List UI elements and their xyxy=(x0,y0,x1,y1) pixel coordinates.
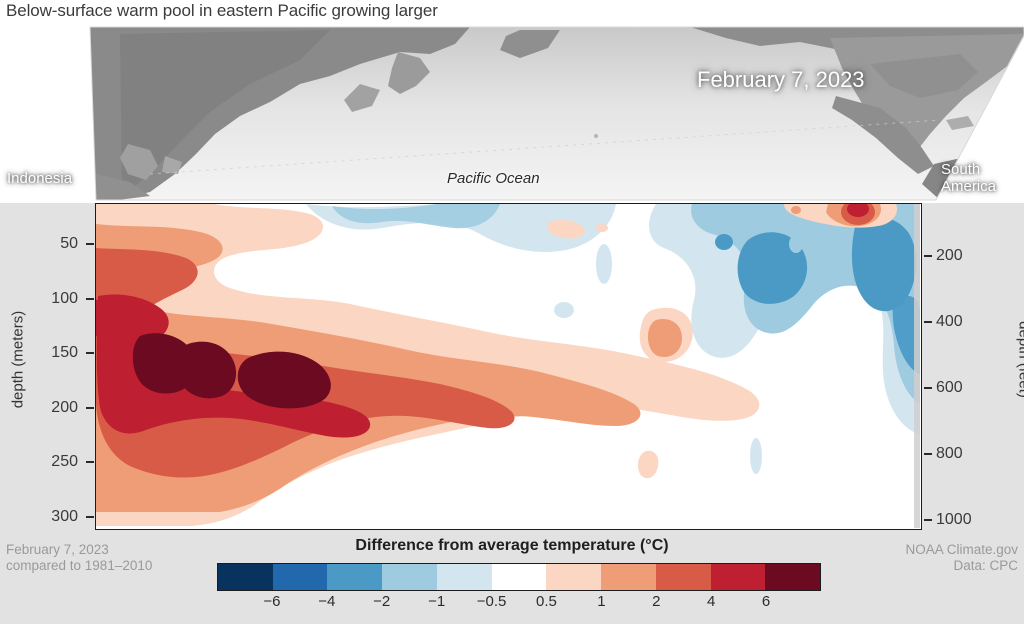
colorbar-swatch-9 xyxy=(711,564,766,590)
colorbar-tick-9: 6 xyxy=(762,593,770,610)
colorbar-swatch-2 xyxy=(327,564,382,590)
y-tickmark-300 xyxy=(86,516,94,518)
y-tick-150: 150 xyxy=(0,344,78,362)
colorbar-swatch-8 xyxy=(656,564,711,590)
credit-baseline: compared to 1981–2010 xyxy=(6,558,152,574)
y-tickmark-1000ft xyxy=(924,519,932,521)
colorbar-swatch-6 xyxy=(546,564,601,590)
perspective-map: Indonesia Pacific Ocean South America Fe… xyxy=(0,24,1024,203)
cool-speck-a xyxy=(715,234,733,250)
map-graphic xyxy=(0,24,1024,203)
colorbar-tick-7: 2 xyxy=(652,593,660,610)
y-tickmark-150 xyxy=(86,352,94,354)
colorbar-swatch-7 xyxy=(601,564,656,590)
credit-data: Data: CPC xyxy=(905,558,1018,574)
y-tickmark-100 xyxy=(86,298,94,300)
east-boundary-strip xyxy=(914,204,920,528)
y-tickmark-200 xyxy=(86,407,94,409)
y-tickmark-250 xyxy=(86,461,94,463)
colorbar-swatch-1 xyxy=(273,564,328,590)
y-tickmark-50 xyxy=(86,243,94,245)
footer: February 7, 2023 compared to 1981–2010 N… xyxy=(0,533,1024,624)
y-tick-50: 50 xyxy=(0,235,78,253)
y-tickmark-200ft xyxy=(924,255,932,257)
y-tick-800ft: 800 xyxy=(936,445,963,463)
y-tick-600ft: 600 xyxy=(936,379,963,397)
warm-speck-east-a xyxy=(791,206,801,214)
y-axis-label-feet: depth (feet) xyxy=(1016,280,1024,440)
colorbar-tick-3: −1 xyxy=(428,593,445,610)
cross-section-panel: depth (meters) 50 100 150 200 250 300 de… xyxy=(0,203,1024,533)
y-tick-1000ft: 1000 xyxy=(936,511,972,529)
land-hawaii xyxy=(594,134,598,138)
colorbar xyxy=(217,563,821,591)
y-tick-100: 100 xyxy=(0,290,78,308)
depth-section-plot xyxy=(95,203,922,530)
colorbar-swatch-0 xyxy=(218,564,273,590)
y-tick-200: 200 xyxy=(0,399,78,417)
y-tickmark-800ft xyxy=(924,453,932,455)
colorbar-tick-4: −0.5 xyxy=(477,593,507,610)
climate-figure: Below-surface warm pool in eastern Pacif… xyxy=(0,0,1024,624)
y-tickmark-600ft xyxy=(924,387,932,389)
colorbar-swatch-10 xyxy=(765,564,820,590)
y-tick-400ft: 400 xyxy=(936,313,963,331)
cool-blob-mid-1 xyxy=(697,306,711,338)
warm-speck-east-c xyxy=(596,224,608,232)
page-title: Below-surface warm pool in eastern Pacif… xyxy=(6,1,438,21)
colorbar-swatch-5 xyxy=(492,564,547,590)
colorbar-swatch-4 xyxy=(437,564,492,590)
y-tick-300: 300 xyxy=(0,508,78,526)
colorbar-tick-0: −6 xyxy=(263,593,280,610)
colorbar-title: Difference from average temperature (°C) xyxy=(0,537,1024,555)
cool-blob-small xyxy=(554,302,574,318)
colorbar-tick-8: 4 xyxy=(707,593,715,610)
colorbar-tick-2: −2 xyxy=(373,593,390,610)
y-tick-200ft: 200 xyxy=(936,247,963,265)
cool-blob-upper xyxy=(596,244,612,284)
title-bar: Below-surface warm pool in eastern Pacif… xyxy=(0,0,1024,24)
warm-lobe-mid-east xyxy=(648,319,682,357)
colorbar-tick-5: 0.5 xyxy=(536,593,557,610)
colorbar-tick-6: 1 xyxy=(597,593,605,610)
y-tick-250: 250 xyxy=(0,453,78,471)
colorbar-tick-1: −4 xyxy=(318,593,335,610)
colorbar-ticks: −6−4−2−1−0.50.51246 xyxy=(217,593,821,617)
y-tickmark-400ft xyxy=(924,321,932,323)
cool-blob-deep xyxy=(750,438,762,474)
colorbar-swatch-3 xyxy=(382,564,437,590)
cool-speck-b xyxy=(789,235,803,253)
anomaly-contours xyxy=(96,204,920,528)
